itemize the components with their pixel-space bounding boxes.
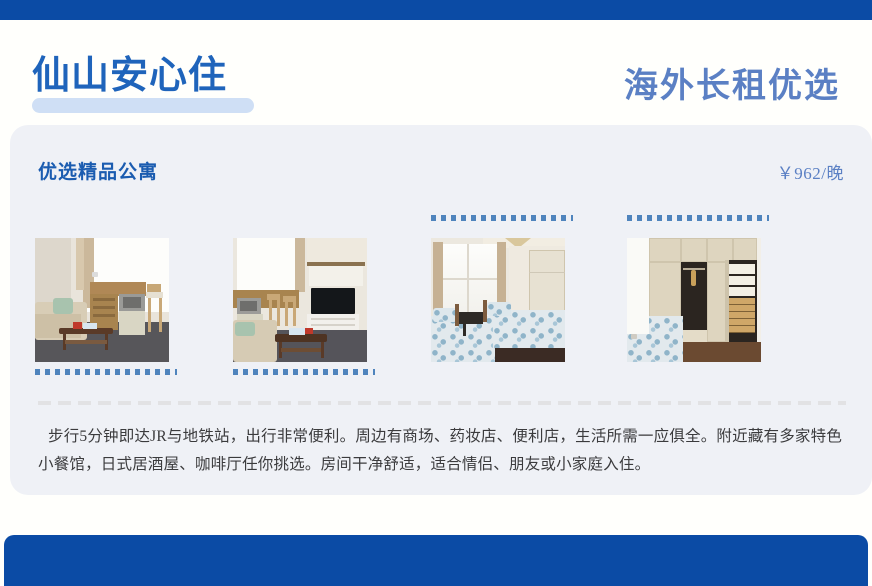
listing-price: ￥962/晚 xyxy=(777,159,844,184)
page-header: 仙山安心住 海外长租优选 xyxy=(0,20,872,120)
listing-photo-3[interactable] xyxy=(431,238,565,362)
listing-title: 优选精品公寓 xyxy=(38,157,158,184)
listing-photo-1[interactable] xyxy=(35,238,169,362)
gallery-item[interactable] xyxy=(23,197,220,392)
section-divider xyxy=(38,401,846,405)
photo-gallery xyxy=(10,197,872,392)
listing-description: 步行5分钟即达JR与地铁站，出行非常便利。周边有商场、药妆店、便利店，生活所需一… xyxy=(38,423,850,479)
bottom-accent-bar xyxy=(4,535,868,586)
brand-block: 仙山安心住 xyxy=(32,54,227,98)
photo-dot-rule xyxy=(233,369,375,375)
listing-photo-4[interactable] xyxy=(627,238,761,362)
photo-dot-rule xyxy=(627,215,769,221)
listing-card-header: 优选精品公寓 ￥962/晚 xyxy=(10,125,872,197)
listing-card[interactable]: 优选精品公寓 ￥962/晚 xyxy=(10,125,872,495)
header-tagline: 海外长租优选 xyxy=(624,58,840,107)
listing-photo-2[interactable] xyxy=(233,238,367,362)
brand-highlight-bar xyxy=(32,98,254,113)
gallery-item[interactable] xyxy=(615,197,812,392)
photo-dot-rule xyxy=(431,215,573,221)
top-accent-bar xyxy=(0,0,872,20)
gallery-item[interactable] xyxy=(221,197,418,392)
page-title: 仙山安心住 xyxy=(32,54,227,98)
photo-dot-rule xyxy=(35,369,177,375)
gallery-item[interactable] xyxy=(419,197,616,392)
